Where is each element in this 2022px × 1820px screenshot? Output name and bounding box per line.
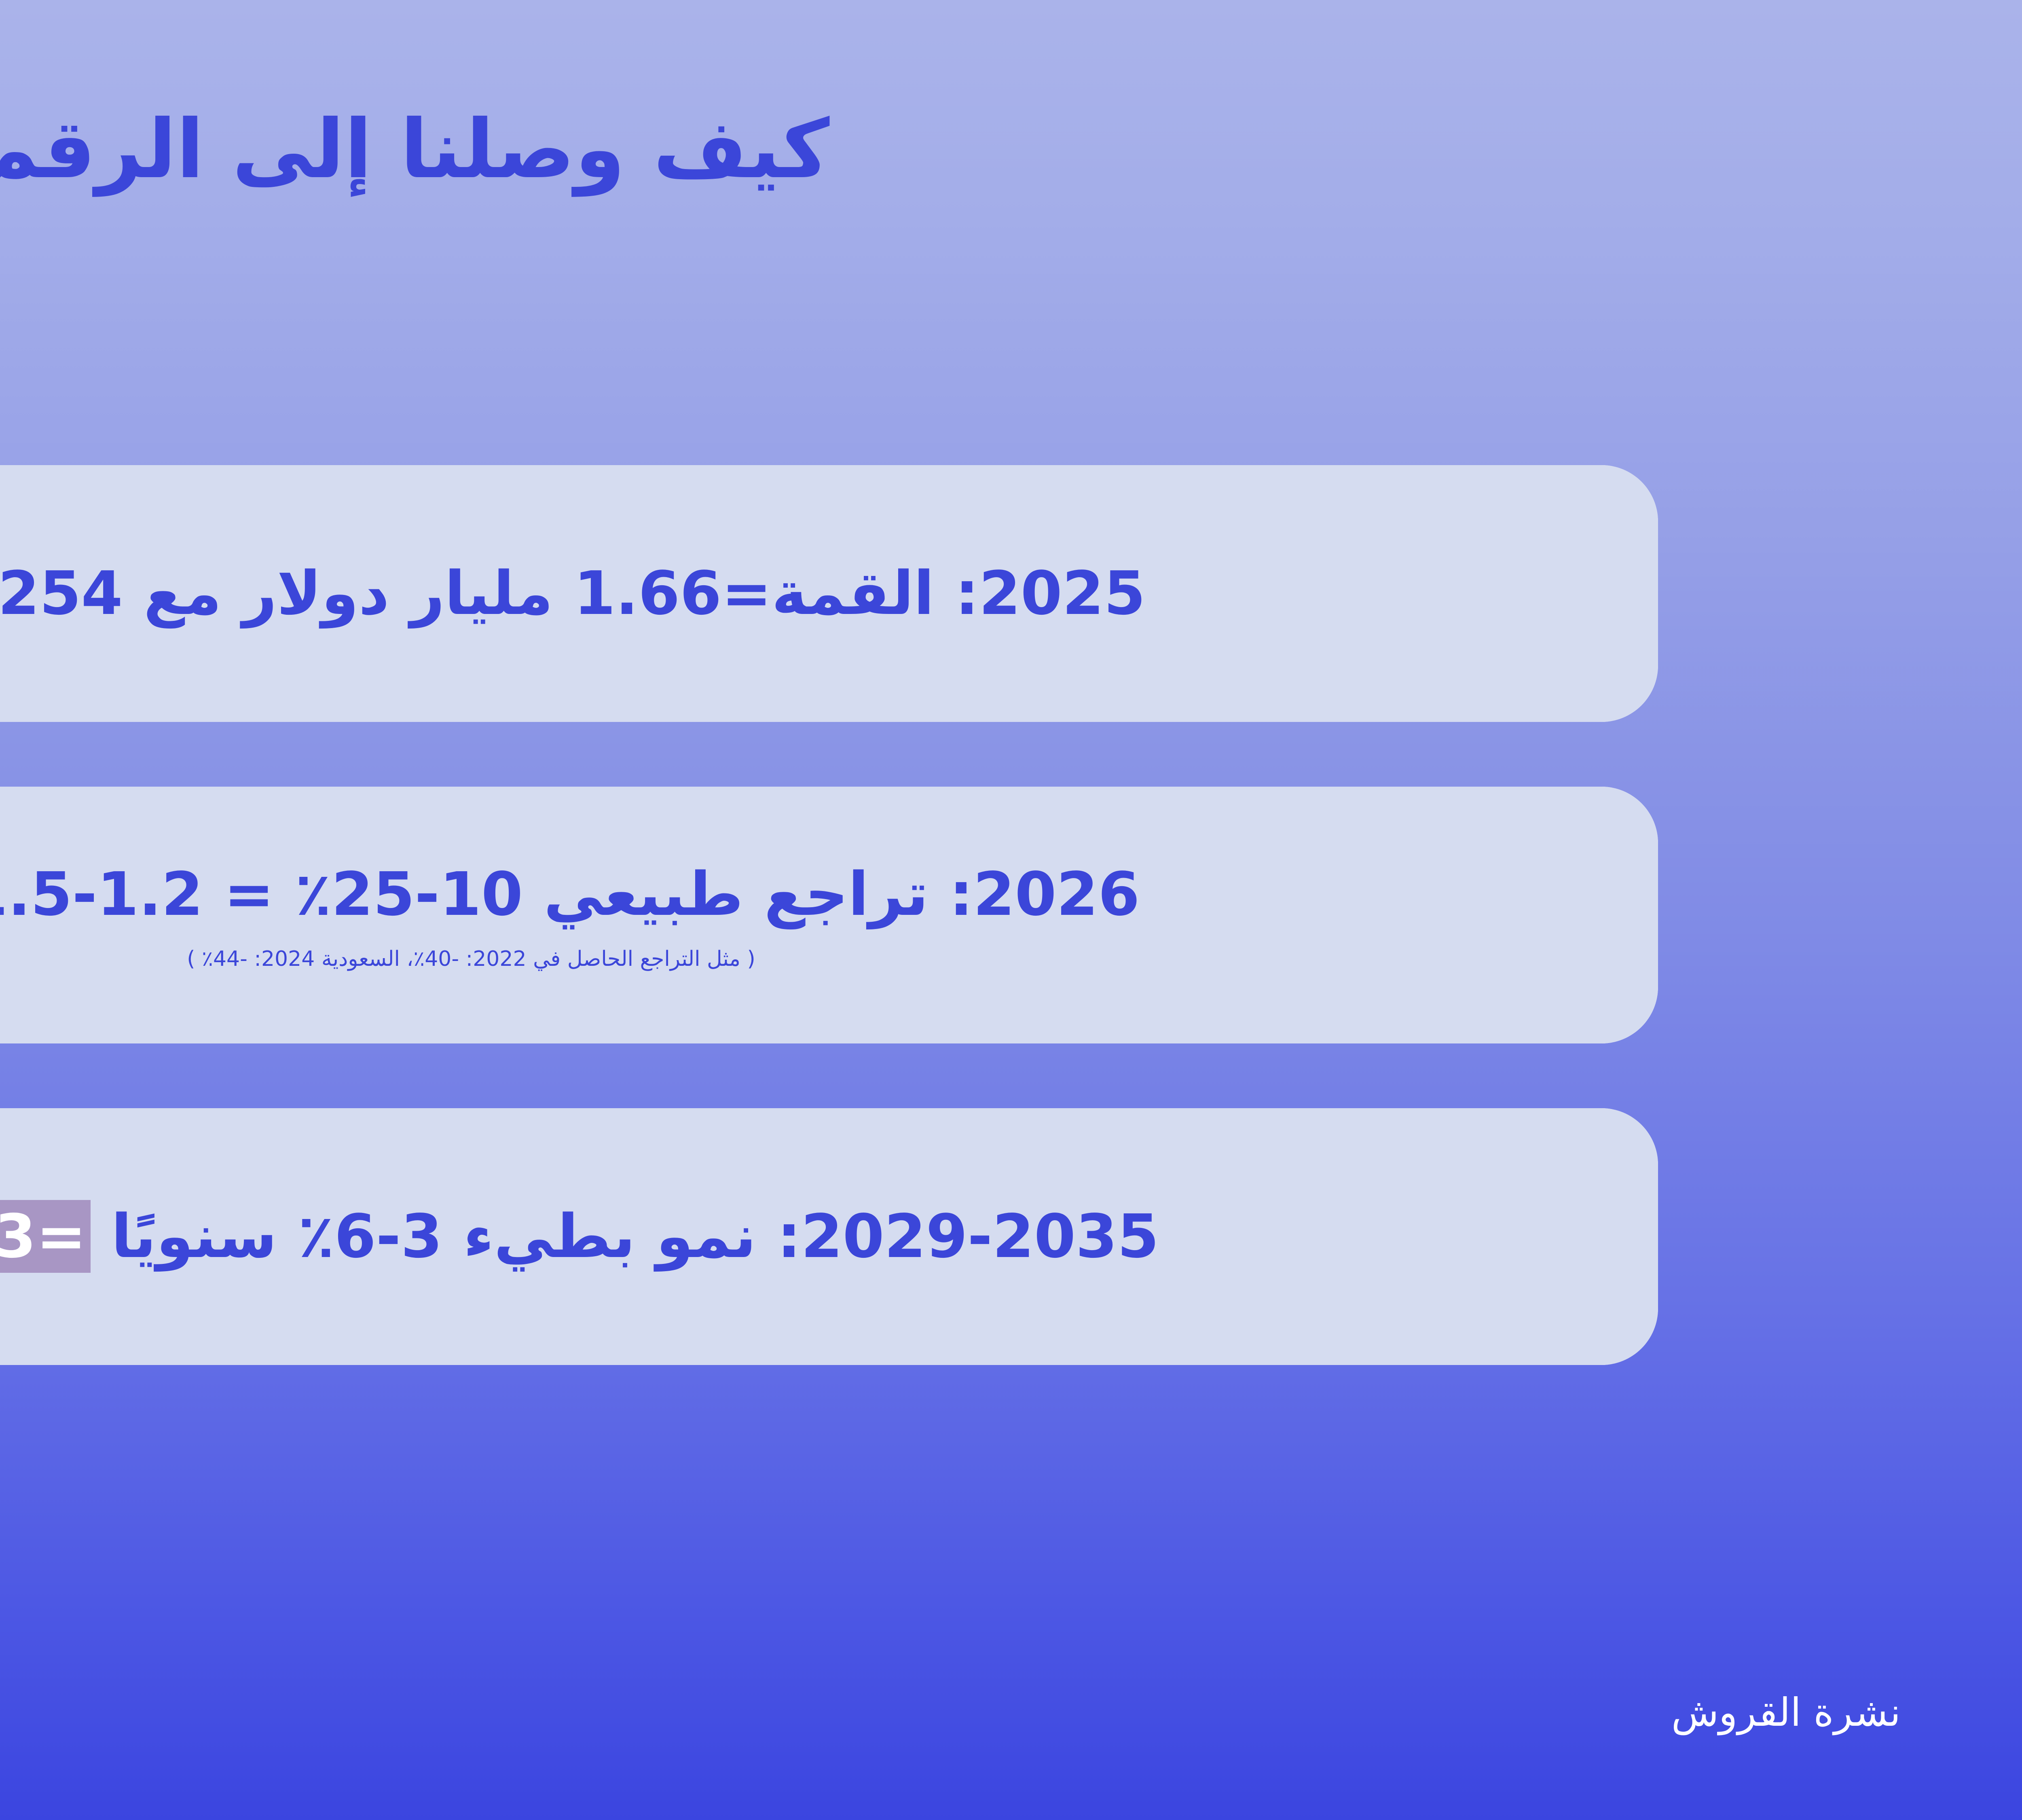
page-title: كيف وصلنا إلى الرقم [0,103,2022,196]
rows-container: 2025: القمة=1.66 مليار دولار مع 254 صفقة [0,465,1658,1430]
row-text: 2026: تراجع طبيعي 10-25٪ = 1.2-1.5 مليار [0,857,1140,932]
slide-root: كيف وصلنا إلى الرقم 2025: القمة=1.66 ملي… [0,0,2022,1820]
row-2029-2035: 2029-2035: نمو بطيء 3-6٪ سنويًا =2.3مليا… [0,1108,1658,1365]
row-text: 2025: القمة=1.66 مليار دولار مع 254 صفقة [0,556,1146,631]
row-panel: 2025: القمة=1.66 مليار دولار مع 254 صفقة [0,465,1658,722]
row-2026: 2026: تراجع طبيعي 10-25٪ = 1.2-1.5 مليار… [0,787,1658,1043]
row-text-highlight: =2.3مليار [0,1200,91,1273]
row-2025: 2025: القمة=1.66 مليار دولار مع 254 صفقة [0,465,1658,722]
row-subtext: ( مثل التراجع الحاصل في 2022: -40٪، السع… [187,946,755,973]
row-panel: 2026: تراجع طبيعي 10-25٪ = 1.2-1.5 مليار… [0,787,1658,1043]
row-panel: 2029-2035: نمو بطيء 3-6٪ سنويًا =2.3مليا… [0,1108,1658,1365]
row-text-prefix: 2029-2035: نمو بطيء 3-6٪ سنويًا [91,1202,1159,1271]
row-text: 2029-2035: نمو بطيء 3-6٪ سنويًا =2.3مليا… [0,1199,1159,1274]
footer-brand: نشرة القروش [1671,1690,1901,1735]
